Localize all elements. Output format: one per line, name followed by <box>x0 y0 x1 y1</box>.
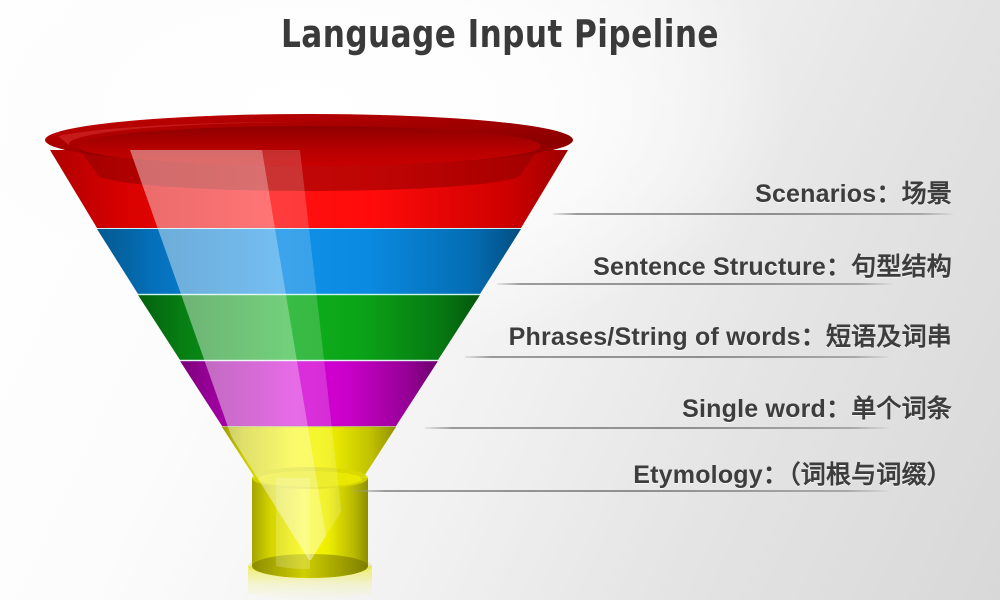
funnel-gloss-stem <box>276 478 310 569</box>
label-sep-1: ： <box>876 179 901 208</box>
funnel-label-separator-1 <box>553 213 953 215</box>
label-en-4: Single word <box>682 395 826 423</box>
label-sep-4: ： <box>826 394 851 423</box>
label-cn-1: 场景 <box>902 179 952 208</box>
funnel-diagram-canvas: Language Input Pipeline <box>0 0 1000 600</box>
label-sep-3: ： <box>801 322 826 351</box>
label-cn-4: 单个词条 <box>851 394 952 423</box>
funnel-band-scenarios[interactable] <box>45 114 573 228</box>
funnel-label-sentence-structure: Sentence Structure：句型结构 <box>593 247 952 283</box>
label-en-1: Scenarios <box>755 180 876 208</box>
label-en-3: Phrases/String of words <box>509 323 801 351</box>
label-sep-5: ： <box>763 460 788 489</box>
funnel-label-separator-4 <box>425 427 889 429</box>
label-cn-2: 句型结构 <box>851 252 952 281</box>
funnel-graphic <box>0 0 1000 600</box>
funnel-label-phrases: Phrases/String of words：短语及词串 <box>509 317 952 353</box>
label-cn-3: 短语及词串 <box>826 322 952 351</box>
label-sep-2: ： <box>826 252 851 281</box>
funnel-label-single-word: Single word：单个词条 <box>682 389 952 425</box>
funnel-label-separator-3 <box>465 356 889 358</box>
funnel-label-separator-5 <box>353 490 889 492</box>
label-cn-5: （词根与词缀） <box>788 460 952 489</box>
label-en-5: Etymology <box>633 461 763 489</box>
funnel-label-separator-2 <box>497 283 892 285</box>
funnel-label-etymology: Etymology：（词根与词缀） <box>633 455 952 491</box>
label-en-2: Sentence Structure <box>593 253 826 281</box>
funnel-label-scenarios: Scenarios：场景 <box>755 174 952 210</box>
